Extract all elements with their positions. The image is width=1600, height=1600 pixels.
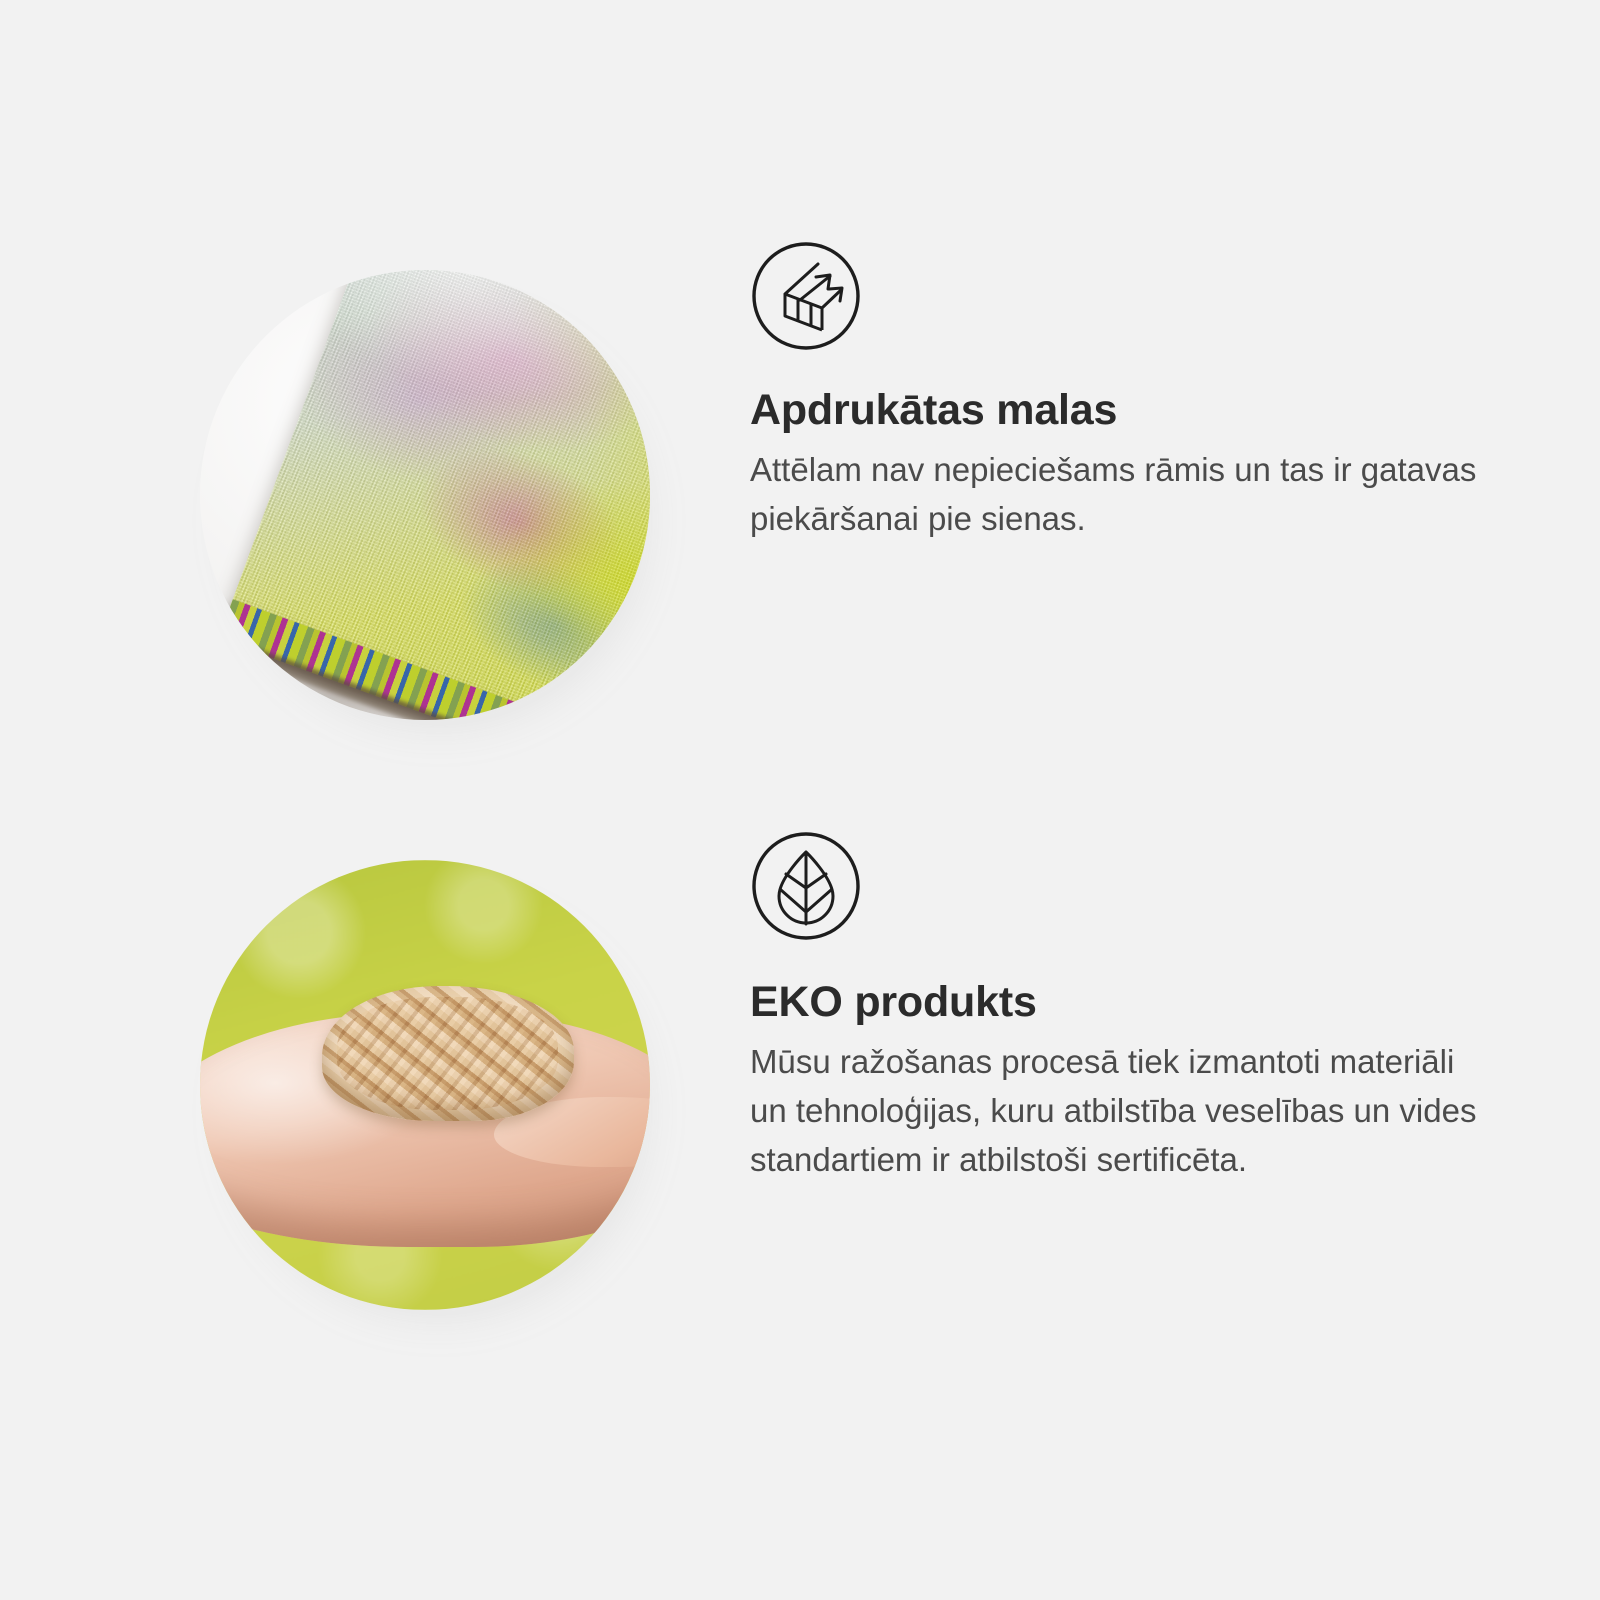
feature-title: EKO produkts bbox=[750, 978, 1490, 1027]
feature-image-printed-edges bbox=[200, 270, 650, 720]
wood-chips-pile bbox=[322, 986, 574, 1121]
feature-text-eko-product: EKO produkts Mūsu ražošanas procesā tiek… bbox=[750, 830, 1490, 1184]
feature-eko-product: EKO produkts Mūsu ražošanas procesā tiek… bbox=[0, 830, 1600, 1370]
circular-photo-hands-wood-chips bbox=[200, 860, 650, 1310]
printed-edges-icon bbox=[750, 240, 862, 352]
feature-printed-edges: Apdrukātas malas Attēlam nav nepieciešam… bbox=[0, 240, 1600, 780]
feature-description: Mūsu ražošanas procesā tiek izmantoti ma… bbox=[750, 1037, 1490, 1184]
circular-photo-canvas-corner bbox=[200, 270, 650, 720]
leaf-icon bbox=[750, 830, 862, 942]
feature-title: Apdrukātas malas bbox=[750, 386, 1490, 435]
feature-image-eko-product bbox=[200, 860, 650, 1310]
feature-description: Attēlam nav nepieciešams rāmis un tas ir… bbox=[750, 445, 1490, 543]
feature-text-printed-edges: Apdrukātas malas Attēlam nav nepieciešam… bbox=[750, 240, 1490, 543]
